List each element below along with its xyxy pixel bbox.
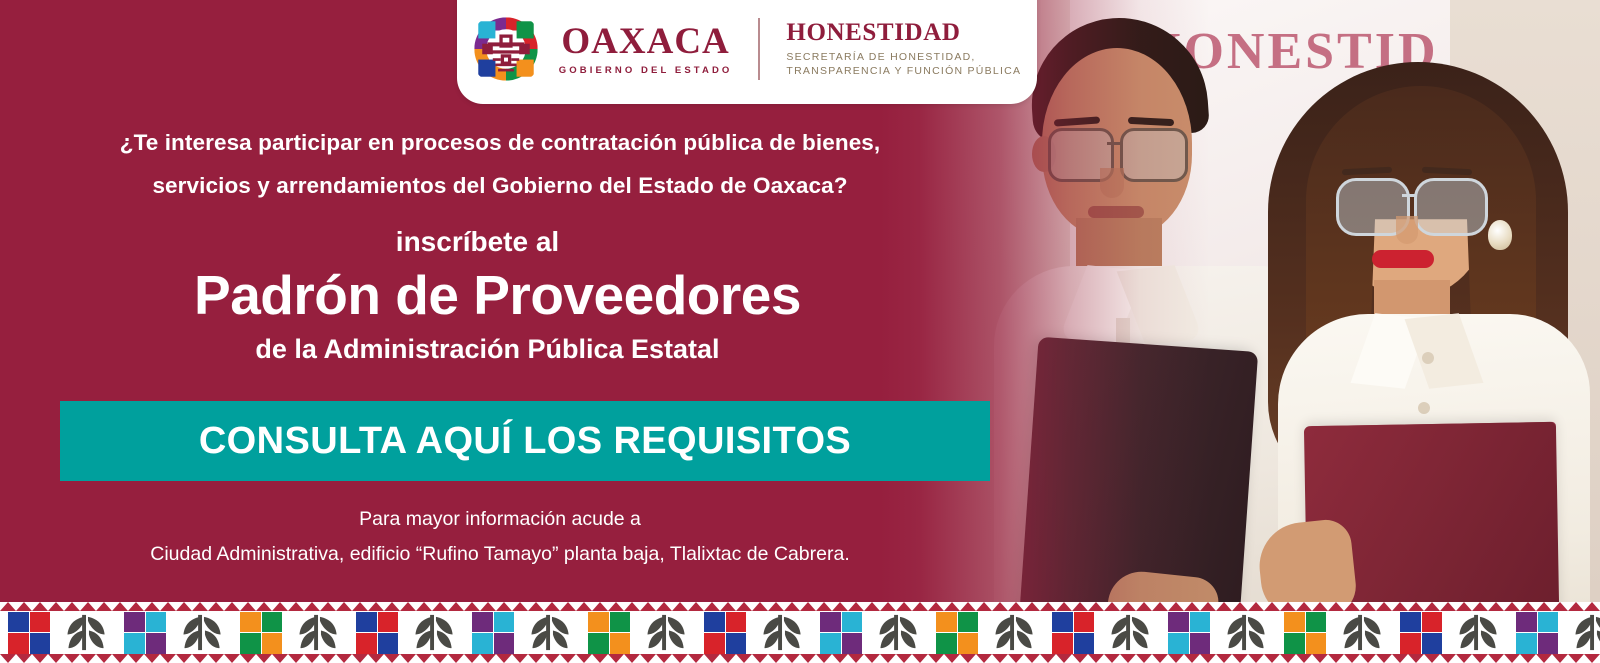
greca-leaf-motif (1338, 611, 1388, 654)
greca-leaf-motif (410, 611, 460, 654)
male-mouth (1088, 206, 1144, 218)
greca-square-motif (932, 611, 982, 654)
male-eyeglass-bridge (1107, 142, 1123, 145)
greca-leaf-motif (1222, 611, 1272, 654)
greca-leaf-motif (178, 611, 228, 654)
headline-title: Padrón de Proveedores (0, 266, 995, 325)
female-earring (1488, 220, 1512, 250)
greca-leaf-motif (874, 611, 924, 654)
female-nose (1396, 216, 1418, 244)
greca-leaf-motif (294, 611, 344, 654)
female-shirt-button-upper (1422, 352, 1434, 364)
copy-column: ¿Te interesa participar en procesos de c… (0, 0, 1000, 604)
female-mouth (1372, 250, 1434, 268)
male-eyeglass-right (1120, 128, 1188, 182)
female-eyeglass-bridge (1402, 194, 1416, 197)
headline-kicker: inscríbete al (0, 226, 955, 258)
male-nose (1100, 168, 1124, 198)
greca-square-motif (1280, 611, 1330, 654)
consulta-requisitos-button[interactable]: CONSULTA AQUÍ LOS REQUISITOS (60, 401, 990, 481)
question-line-1: ¿Te interesa participar en procesos de c… (0, 130, 1000, 156)
zigzag-top-icon (0, 602, 1600, 611)
female-eyeglass-right (1414, 178, 1488, 236)
headline-subtitle: de la Administración Pública Estatal (0, 334, 975, 365)
person-female (1250, 52, 1590, 604)
greca-leaf-motif (1106, 611, 1156, 654)
greca-square-motif (1164, 611, 1214, 654)
greca-square-motif (1396, 611, 1446, 654)
greca-pattern-band (0, 602, 1600, 663)
greca-square-motif (1512, 611, 1562, 654)
greca-motif-row (0, 611, 1600, 654)
greca-leaf-motif (1454, 611, 1504, 654)
info-line-2: Ciudad Administrativa, edificio “Rufino … (0, 543, 1000, 566)
greca-leaf-motif (526, 611, 576, 654)
greca-square-motif (352, 611, 402, 654)
greca-leaf-motif (758, 611, 808, 654)
greca-leaf-motif (642, 611, 692, 654)
greca-square-motif (120, 611, 170, 654)
greca-square-motif (584, 611, 634, 654)
zigzag-bottom-icon (0, 654, 1600, 663)
cta-label: CONSULTA AQUÍ LOS REQUISITOS (199, 420, 851, 463)
female-shirt-button-lower (1418, 402, 1430, 414)
greca-leaf-motif (62, 611, 112, 654)
question-line-2: servicios y arrendamientos del Gobierno … (0, 173, 1000, 199)
info-line-1: Para mayor información acude a (0, 508, 1000, 531)
greca-square-motif (468, 611, 518, 654)
greca-square-motif (4, 611, 54, 654)
greca-leaf-motif (990, 611, 1040, 654)
greca-square-motif (236, 611, 286, 654)
greca-square-motif (816, 611, 866, 654)
oaxaca-padron-proveedores-banner: HONESTID (0, 0, 1600, 663)
greca-square-motif (700, 611, 750, 654)
greca-square-motif (1048, 611, 1098, 654)
greca-leaf-motif (1570, 611, 1600, 654)
